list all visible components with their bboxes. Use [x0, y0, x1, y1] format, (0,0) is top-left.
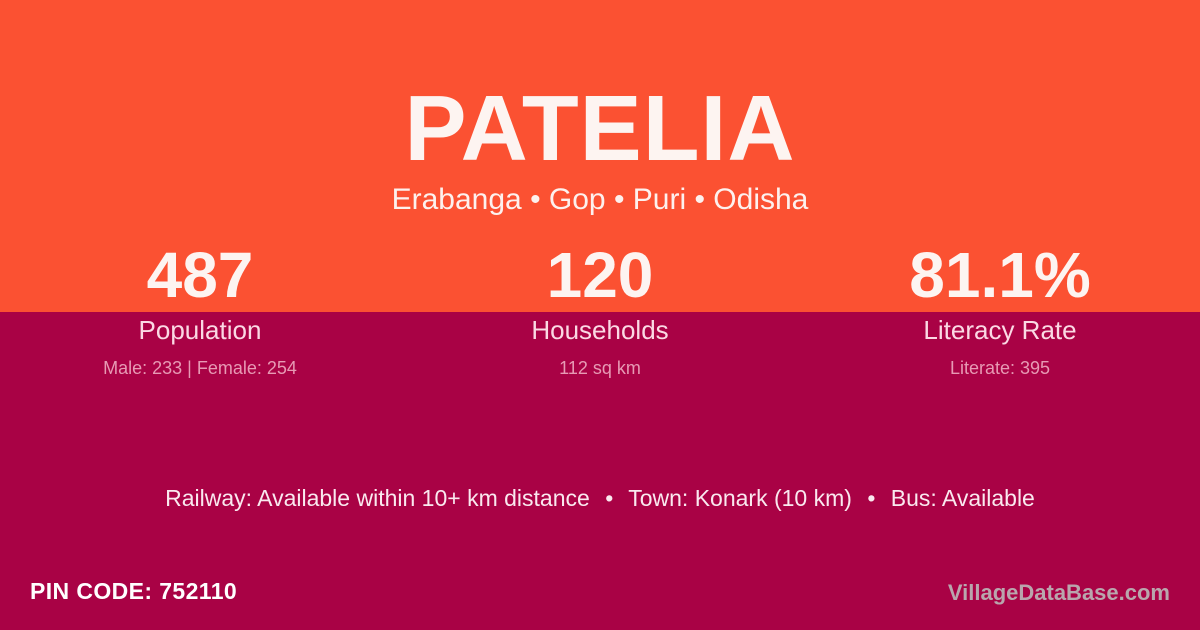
stat-sublabel: Literate: 395 [800, 358, 1200, 380]
infra-bus: Bus: Available [891, 485, 1035, 511]
stat-population: 487 Population Male: 233 | Female: 254 [0, 241, 400, 380]
infra-separator-icon: • [858, 484, 884, 514]
stat-label: Households [400, 315, 800, 346]
stat-value: 487 [0, 241, 400, 310]
page-title: PATELIA [0, 82, 1200, 175]
infra-separator-icon: • [596, 484, 622, 514]
pin-code: PIN CODE: 752110 [30, 577, 237, 607]
stat-value: 81.1% [800, 241, 1200, 310]
brand-watermark: VillageDataBase.com [948, 579, 1170, 608]
infrastructure-line: Railway: Available within 10+ km distanc… [0, 484, 1200, 514]
stat-value: 120 [400, 241, 800, 310]
infra-railway: Railway: Available within 10+ km distanc… [165, 485, 590, 511]
infra-town: Town: Konark (10 km) [628, 485, 852, 511]
breadcrumb: Erabanga • Gop • Puri • Odisha [0, 182, 1200, 218]
stat-label: Population [0, 315, 400, 346]
stat-literacy-rate: 81.1% Literacy Rate Literate: 395 [800, 241, 1200, 380]
stat-households: 120 Households 112 sq km [400, 241, 800, 380]
village-info-card: PATELIA Erabanga • Gop • Puri • Odisha 4… [0, 0, 1200, 630]
stats-row: 487 Population Male: 233 | Female: 254 1… [0, 241, 1200, 380]
stat-label: Literacy Rate [800, 315, 1200, 346]
stat-sublabel: Male: 233 | Female: 254 [0, 358, 400, 380]
stat-sublabel: 112 sq km [400, 358, 800, 380]
